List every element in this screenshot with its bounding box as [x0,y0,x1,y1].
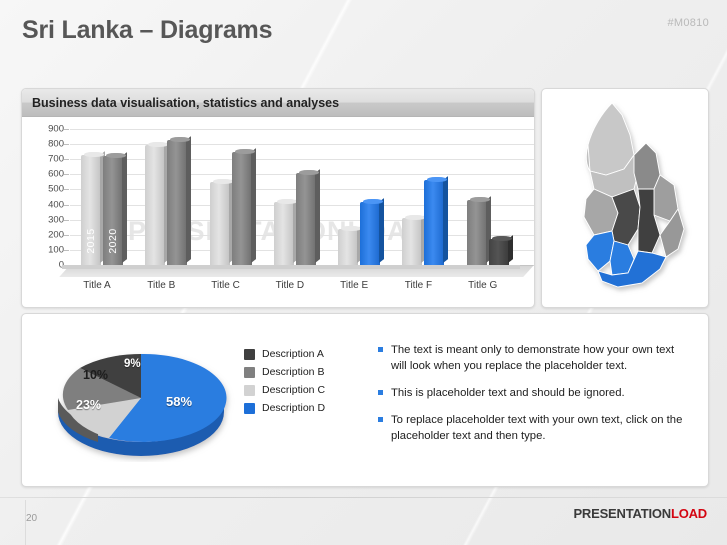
bar-chart-plot: 900800700600500400300200100020152020 [70,129,520,265]
chart-header-bar: Business data visualisation, statistics … [22,89,534,117]
chart-y-tick-label: 300 [48,214,64,225]
bar-group[interactable] [402,180,444,265]
chart-tick-mark [64,250,69,251]
bar-face [489,239,509,265]
bar-side [315,169,320,263]
bar-face [232,152,252,265]
chart-tick-mark [64,144,69,145]
chart-y-tick-label: 800 [48,139,64,150]
bullet-marker-icon [378,417,383,422]
chart-tick-mark [64,205,69,206]
slide-canvas: Sri Lanka – Diagrams #M0810 Business dat… [0,0,727,545]
chart-y-tick-label: 700 [48,154,64,165]
bar-title-e-2020[interactable] [360,202,380,265]
bar-title-f-2015[interactable] [402,218,422,265]
bar-face [338,229,358,265]
bar-side [186,136,191,263]
legend-label-b: Description B [262,366,324,378]
legend-label-c: Description C [262,384,325,396]
bar-side [443,176,448,263]
bar-side [122,152,127,263]
pie-value-a: 9% [124,358,141,370]
bar-title-a-2020[interactable]: 2020 [103,156,123,265]
pie-value-c: 23% [76,398,101,412]
bar-face [360,202,380,265]
chart-y-tick-label: 600 [48,169,64,180]
chart-tick-mark [64,159,69,160]
legend-label-d: Description D [262,402,325,414]
bar-group[interactable] [274,173,316,265]
chart-x-label: Title G [468,280,497,291]
chart-x-label: Title D [276,280,305,291]
chart-floor-front [62,265,520,269]
bar-top [84,152,104,157]
bar-title-g-2020[interactable] [489,239,509,265]
chart-tick-mark [64,174,69,175]
chart-tick-mark [64,220,69,221]
bar-face [210,182,230,265]
bullet-marker-icon [378,390,383,395]
bar-face [274,202,294,265]
bullet-text: The text is meant only to demonstrate ho… [391,342,690,374]
chart-y-tick-label: 200 [48,229,64,240]
chart-x-label: Title F [405,280,432,291]
chart-tick-mark [64,235,69,236]
bar-series-label-2015: 2015 [85,228,97,253]
legend-item-b[interactable]: Description B [244,366,325,378]
bar-title-c-2020[interactable] [232,152,252,265]
chart-tick-mark [64,189,69,190]
bullet-item[interactable]: This is placeholder text and should be i… [378,385,690,401]
bar-top [427,177,447,182]
bullet-list: The text is meant only to demonstrate ho… [378,342,690,455]
chart-gridline [70,159,534,160]
bar-title-a-2015[interactable]: 2015 [81,155,101,265]
bar-title-c-2015[interactable] [210,182,230,265]
bar-top [213,179,233,184]
bar-face [402,218,422,265]
bar-top [170,137,190,142]
bar-title-d-2015[interactable] [274,202,294,265]
map-region-western[interactable] [586,231,614,271]
legend-item-c[interactable]: Description C [244,384,325,396]
bar-group[interactable] [467,200,509,265]
chart-x-label: Title E [340,280,368,291]
bar-group[interactable] [145,140,187,265]
bullet-text: This is placeholder text and should be i… [391,385,625,401]
footer-divider [0,497,727,498]
bar-title-d-2020[interactable] [296,173,316,265]
bar-group[interactable]: 20152020 [81,155,123,265]
bullet-item[interactable]: To replace placeholder text with your ow… [378,412,690,444]
chart-x-label: Title B [147,280,175,291]
chart-x-label: Title A [83,280,110,291]
bar-top [235,149,255,154]
bar-face [296,173,316,265]
brand-accent: LOAD [671,506,707,521]
legend-item-d[interactable]: Description D [244,402,325,414]
sri-lanka-map-card[interactable] [541,88,709,308]
bar-top [341,226,361,231]
legend-item-a[interactable]: Description A [244,348,325,360]
bar-top [299,170,319,175]
bar-side [379,198,384,263]
bullet-marker-icon [378,347,383,352]
bar-group[interactable] [210,152,252,265]
legend-label-a: Description A [262,348,324,360]
bar-title-b-2020[interactable] [167,140,187,265]
page-title: Sri Lanka – Diagrams [22,16,272,45]
pie-legend: Description A Description B Description … [244,348,325,420]
pie-value-d: 58% [166,394,192,409]
chart-y-tick-label: 500 [48,184,64,195]
chart-gridline [70,129,534,130]
bar-face [424,180,444,265]
chart-tick-mark [64,129,69,130]
legend-swatch-c [244,385,255,396]
pie-value-b: 10% [83,368,108,382]
legend-swatch-b [244,367,255,378]
bar-title-f-2020[interactable] [424,180,444,265]
legend-swatch-a [244,349,255,360]
map-region-north-east[interactable] [634,143,660,189]
legend-swatch-d [244,403,255,414]
bar-face [467,200,487,265]
brand-logo: PRESENTATIONLOAD [573,506,707,521]
bar-face [167,140,187,265]
bullet-text: To replace placeholder text with your ow… [391,412,690,444]
bar-group[interactable] [338,202,380,265]
chart-y-tick-label: 900 [48,124,64,135]
bar-side [251,148,256,263]
pie-chart-svg[interactable] [46,332,236,462]
bar-chart-plot-area: PRESENTATIONLOAD 90080070060050040030020… [22,117,534,308]
pie-chart[interactable]: 58% 23% 10% 9% [46,332,236,462]
page-number: 20 [26,513,37,524]
bar-top [148,142,168,147]
bar-top [470,197,490,202]
document-id: #M0810 [667,17,709,29]
bar-series-label-2020: 2020 [107,228,119,253]
sri-lanka-map-svg[interactable] [542,89,708,307]
chart-x-label: Title C [211,280,240,291]
chart-y-tick-label: 400 [48,199,64,210]
bullet-item[interactable]: The text is meant only to demonstrate ho… [378,342,690,374]
bar-title-e-2015[interactable] [338,229,358,265]
bar-chart-card[interactable]: Business data visualisation, statistics … [21,88,535,308]
bar-face [145,145,165,265]
chart-y-tick-label: 100 [48,244,64,255]
map-region-central[interactable] [612,189,640,245]
brand-primary: PRESENTATION [573,506,671,521]
map-region-northern[interactable] [586,103,634,175]
pie-and-text-card[interactable]: 58% 23% 10% 9% Description A Description… [21,313,709,487]
bar-title-b-2015[interactable] [145,145,165,265]
chart-gridline [70,144,534,145]
chart-header-title: Business data visualisation, statistics … [32,96,339,110]
bar-title-g-2015[interactable] [467,200,487,265]
